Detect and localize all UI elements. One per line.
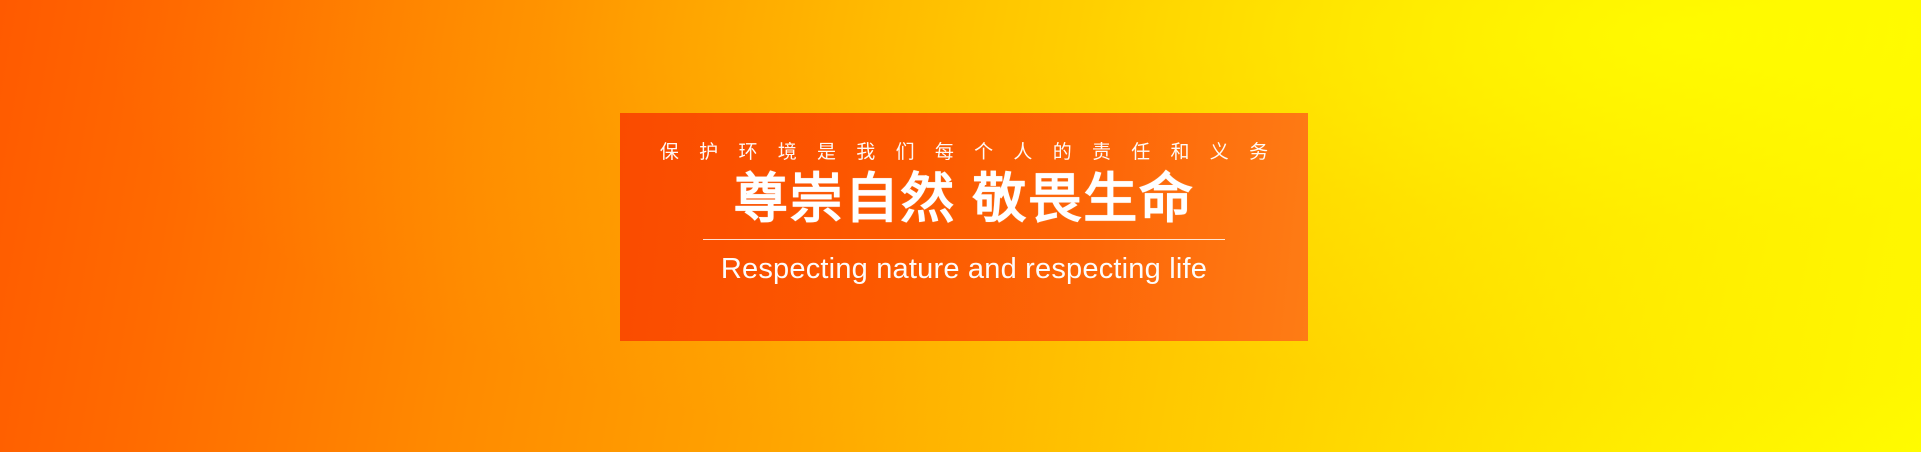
panel-headline: 尊崇自然 敬畏生命 xyxy=(734,171,1195,227)
slogan-panel: 保 护 环 境 是 我 们 每 个 人 的 责 任 和 义 务 尊崇自然 敬畏生… xyxy=(620,113,1308,341)
panel-divider xyxy=(703,239,1225,240)
environment-slogan-banner: 保 护 环 境 是 我 们 每 个 人 的 责 任 和 义 务 尊崇自然 敬畏生… xyxy=(0,0,1921,452)
panel-tagline: Respecting nature and respecting life xyxy=(721,254,1207,286)
panel-subtitle: 保 护 环 境 是 我 们 每 个 人 的 责 任 和 义 务 xyxy=(652,143,1275,162)
